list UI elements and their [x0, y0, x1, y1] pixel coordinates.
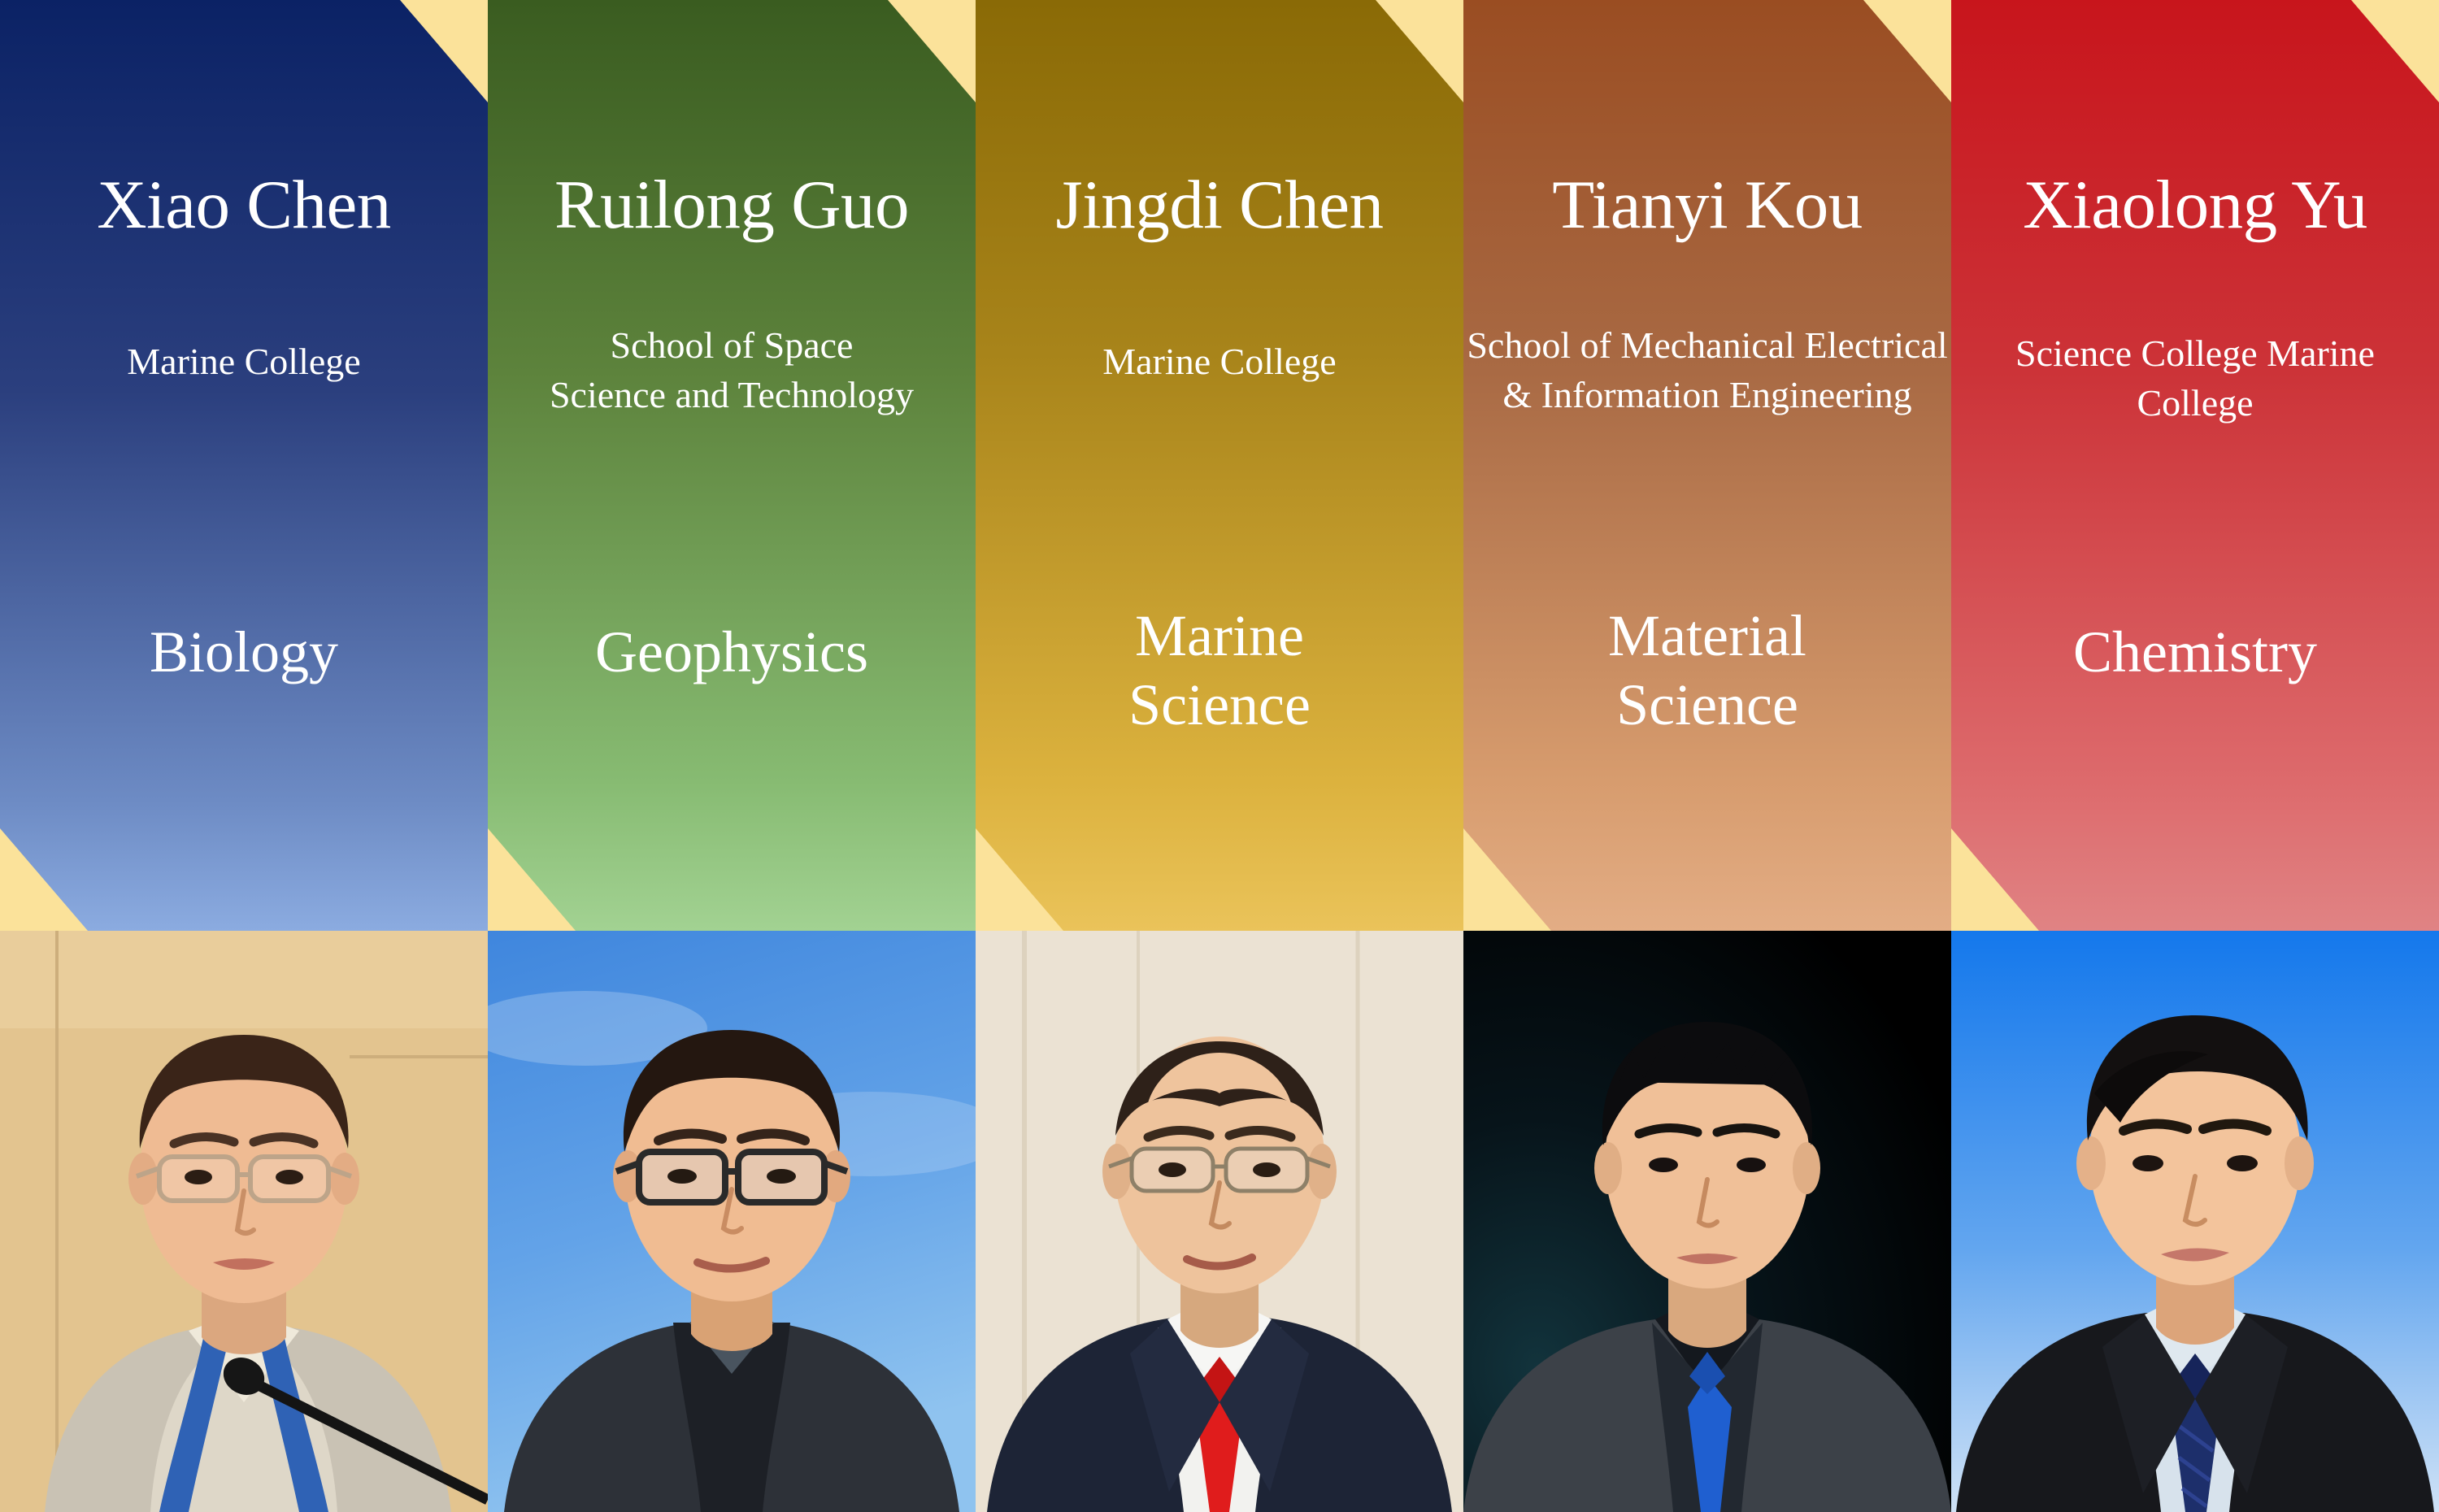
person-field: Material Science	[1573, 602, 1841, 740]
person-field: Biology	[0, 618, 488, 687]
person-department: School of Mechanical Electrical & Inform…	[1463, 321, 1951, 419]
profile-card[interactable]: Xiao Chen Marine College Biology	[0, 0, 488, 931]
portrait-photo	[1951, 931, 2439, 1512]
profile-card[interactable]: Xiaolong Yu Science College Marine Colle…	[1951, 0, 2439, 931]
person-department: Marine College	[976, 337, 1463, 387]
profile-card[interactable]: Jingdi Chen Marine College Marine Scienc…	[976, 0, 1463, 931]
person-field: Geophysics	[488, 618, 976, 687]
portrait-photo	[976, 931, 1463, 1512]
profile-card[interactable]: Tianyi Kou School of Mechanical Electric…	[1463, 0, 1951, 931]
portrait-photo	[1463, 931, 1951, 1512]
person-name: Xiaolong Yu	[2023, 171, 2367, 240]
person-field: Marine Science	[1085, 602, 1354, 740]
portrait-tianyi-kou	[1463, 931, 1951, 1512]
people-poster: Xiao Chen Marine College Biology Ruilong…	[0, 0, 2439, 1512]
person-department: Marine College	[0, 337, 488, 387]
person-name: Tianyi Kou	[1552, 171, 1863, 240]
person-name: Jingdi Chen	[1056, 171, 1384, 240]
person-name: Ruilong Guo	[554, 171, 909, 240]
portrait-xiaolong-yu	[1951, 931, 2439, 1512]
portrait-xiao-chen	[0, 931, 488, 1512]
person-field: Chemistry	[1951, 618, 2439, 687]
person-department: School of Space Science and Technology	[549, 321, 915, 419]
portrait-photo-row	[0, 931, 2439, 1512]
profile-card-row: Xiao Chen Marine College Biology Ruilong…	[0, 0, 2439, 931]
person-department: Science College Marine College	[2004, 329, 2386, 428]
profile-card[interactable]: Ruilong Guo School of Space Science and …	[488, 0, 976, 931]
portrait-photo	[488, 931, 976, 1512]
portrait-ruilong-guo	[488, 931, 976, 1512]
person-name: Xiao Chen	[97, 171, 390, 240]
portrait-photo	[0, 931, 488, 1512]
portrait-jingdi-chen	[976, 931, 1463, 1512]
